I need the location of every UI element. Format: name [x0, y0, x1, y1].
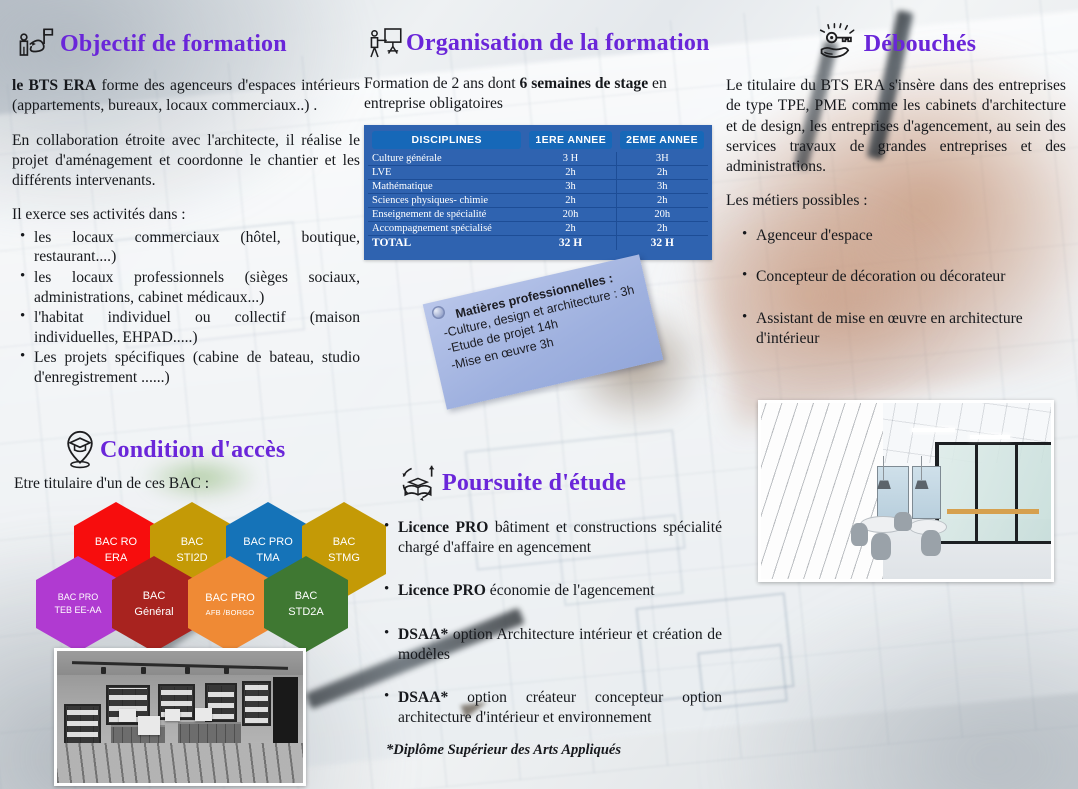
- cell-year2: 2h: [616, 221, 708, 235]
- list-item: Licence PRO bâtiment et constructions sp…: [398, 518, 722, 557]
- hours-table-body: Culture générale 3 H 3H LVE 2h 2h Mathém…: [368, 152, 708, 250]
- debouches-title: Débouchés: [864, 31, 976, 58]
- debouches-paragraph-2: Les métiers possibles :: [726, 191, 1066, 211]
- cell-year1: 2h: [525, 221, 616, 235]
- hexagon-line1: BAC: [143, 588, 166, 605]
- table-row: Mathématique 3h 3h: [368, 179, 708, 193]
- background-shadow-bottom-right: [718, 579, 1078, 789]
- organisation-intro-paragraph: Formation de 2 ans dont 6 semaines de st…: [364, 74, 712, 115]
- list-item: les locaux professionnels (sièges sociau…: [34, 268, 360, 307]
- hexagon-line2: STMG: [328, 550, 360, 567]
- list-item: l'habitat individuel ou collectif (maiso…: [34, 308, 360, 347]
- cell-year1: 2h: [525, 165, 616, 179]
- list-item-lead: DSAA*: [398, 689, 448, 706]
- section-debouches: Débouchés Le titulaire du BTS ERA s'insè…: [726, 22, 1066, 349]
- poursuite-footnote: *Diplôme Supérieur des Arts Appliqués: [372, 741, 722, 760]
- cell-year1: 20h: [525, 207, 616, 221]
- cell-year1: 3 H: [525, 152, 616, 166]
- poursuite-body: Licence PRO bâtiment et constructions sp…: [372, 518, 722, 760]
- shop-spotlight: [141, 667, 146, 674]
- table-row: LVE 2h 2h: [368, 165, 708, 179]
- header-pill-year2: 2EME ANNEE: [620, 131, 704, 149]
- objectif-bullet-list: les locaux commerciaux (hôtel, boutique,…: [12, 228, 360, 388]
- cell-year1: 3h: [525, 179, 616, 193]
- table-row: Enseignement de spécialité 20h 20h: [368, 207, 708, 221]
- cell-year2: 3h: [616, 179, 708, 193]
- hexagon-line2: AFB /BORGO: [206, 607, 255, 618]
- shop-floor: [57, 743, 303, 783]
- list-item-lead: Licence PRO: [398, 519, 488, 536]
- shop-display-box: [119, 709, 136, 722]
- header-cell-year1: 1ERE ANNEE: [525, 131, 616, 152]
- list-item: Les projets spécifiques (cabine de batea…: [34, 348, 360, 387]
- objectif-body: le BTS ERA forme des agenceurs d'espaces…: [12, 76, 360, 388]
- section-condition-dacces: Condition d'accès Etre titulaire d'un de…: [14, 428, 364, 494]
- organisation-title: Organisation de la formation: [406, 30, 710, 57]
- list-item-lead: Licence PRO: [398, 582, 486, 599]
- cell-year2: 2h: [616, 193, 708, 207]
- table-row: Sciences physiques- chimie 2h 2h: [368, 193, 708, 207]
- graduation-pin-icon: [60, 428, 100, 472]
- poursuite-bullet-list: Licence PRO bâtiment et constructions sp…: [372, 518, 722, 727]
- shop-interior-photo: [54, 648, 306, 786]
- list-item: Licence PRO économie de l'agencement: [398, 581, 722, 601]
- office-sketch-wall: [761, 403, 883, 579]
- organisation-intro-highlight: 6 semaines de stage: [520, 75, 649, 92]
- condition-title-row: Condition d'accès: [14, 428, 364, 472]
- office-meeting-desk: [947, 509, 1040, 514]
- poursuite-title-row: Poursuite d'étude: [372, 462, 722, 504]
- shop-spotlight: [101, 667, 106, 674]
- condition-title: Condition d'accès: [100, 437, 285, 464]
- cell-total-year1: 32 H: [525, 235, 616, 250]
- cell-discipline: Accompagnement spécialisé: [368, 221, 525, 235]
- section-objectif-de-formation: Objectif de formation le BTS ERA forme d…: [12, 22, 360, 389]
- office-glass-partition: [935, 442, 1051, 544]
- hexagon-line2: STD2A: [288, 604, 323, 621]
- shop-shelf-unit: [242, 681, 272, 726]
- hours-table-header-row: DISCIPLINES 1ERE ANNEE 2EME ANNEE: [368, 131, 708, 152]
- objectif-paragraph-3: Il exerce ses activités dans :: [12, 205, 360, 225]
- cell-year2: 3H: [616, 152, 708, 166]
- shop-doorway: [273, 677, 298, 746]
- cell-discipline: LVE: [368, 165, 525, 179]
- hexagon-line1: BAC PRO: [58, 591, 99, 605]
- hexagon-line2: STI2D: [176, 550, 207, 567]
- hexagon-line1: BAC PRO: [243, 534, 293, 551]
- list-item: les locaux commerciaux (hôtel, boutique,…: [34, 228, 360, 267]
- shop-spotlight: [185, 667, 190, 674]
- hexagon-line1: BAC RO: [95, 534, 137, 551]
- hexagon-line1: BAC: [181, 534, 204, 551]
- hexagon-line1: BAC PRO: [205, 590, 255, 607]
- header-cell-year2: 2EME ANNEE: [616, 131, 708, 152]
- organisation-intro-a: Formation de 2 ans dont: [364, 75, 520, 92]
- cell-year2: 20h: [616, 207, 708, 221]
- header-cell-disciplines: DISCIPLINES: [368, 131, 525, 152]
- cell-total-year2: 32 H: [616, 235, 708, 250]
- list-item: DSAA* option Architecture intérieur et c…: [398, 625, 722, 664]
- organisation-title-row: Organisation de la formation: [364, 22, 712, 64]
- book-graduation-cycle-icon: [398, 462, 438, 504]
- office-chair: [871, 533, 891, 559]
- office-lamp-cord: [921, 456, 922, 481]
- office-ceiling-light: [970, 435, 1011, 439]
- debouches-body: Le titulaire du BTS ERA s'insère dans de…: [726, 76, 1066, 348]
- hours-table-head: DISCIPLINES 1ERE ANNEE 2EME ANNEE: [368, 131, 708, 152]
- list-item: Concepteur de décoration ou décorateur: [756, 267, 1066, 287]
- office-lamp-cord: [883, 456, 884, 481]
- objectif-lead: le BTS ERA: [12, 77, 96, 94]
- office-ceiling-light: [912, 428, 956, 432]
- hours-table: DISCIPLINES 1ERE ANNEE 2EME ANNEE Cultur…: [368, 131, 708, 250]
- debouches-bullet-list: Agenceur d'espace Concepteur de décorati…: [726, 226, 1066, 349]
- hexagon-line2: TMA: [256, 550, 279, 567]
- hexagon-line1: BAC: [333, 534, 356, 551]
- debouches-title-row: Débouchés: [726, 22, 1066, 66]
- list-item-rest: économie de l'agencement: [486, 582, 655, 599]
- section-organisation-de-la-formation: Organisation de la formation Formation d…: [364, 22, 712, 260]
- hand-key-icon: [816, 22, 862, 66]
- bac-hexagon-diagram: BAC RO ERA BAC STI2D BAC PRO TMA BAC STM…: [24, 500, 364, 640]
- list-item: Assistant de mise en œuvre en architectu…: [756, 309, 1066, 348]
- teacher-whiteboard-icon: [364, 22, 406, 64]
- section-poursuite-detude: Poursuite d'étude Licence PRO bâtiment e…: [372, 462, 722, 760]
- cell-discipline: Enseignement de spécialité: [368, 207, 525, 221]
- objectif-paragraph-1: le BTS ERA forme des agenceurs d'espaces…: [12, 76, 360, 117]
- list-item-lead: DSAA*: [398, 626, 448, 643]
- cell-year1: 2h: [525, 193, 616, 207]
- shop-display-box: [195, 708, 212, 721]
- hexagon-line1: BAC: [295, 588, 318, 605]
- table-row: Accompagnement spécialisé 2h 2h: [368, 221, 708, 235]
- office-window: [912, 466, 941, 519]
- hexagon-line2: Général: [134, 604, 173, 621]
- condition-subtitle: Etre titulaire d'un de ces BAC :: [14, 474, 364, 494]
- objectif-title-row: Objectif de formation: [12, 22, 360, 66]
- office-chair: [921, 530, 941, 556]
- person-path-flag-icon: [12, 22, 56, 66]
- objectif-title: Objectif de formation: [60, 31, 287, 58]
- list-item: DSAA* option créateur concepteur option …: [398, 688, 722, 727]
- shop-spotlight: [224, 667, 229, 674]
- table-row-total: TOTAL 32 H 32 H: [368, 235, 708, 250]
- office-interior-photo: [758, 400, 1054, 582]
- table-row: Culture générale 3 H 3H: [368, 152, 708, 166]
- infographic-poster: Objectif de formation le BTS ERA forme d…: [0, 0, 1078, 789]
- objectif-paragraph-2: En collaboration étroite avec l'architec…: [12, 131, 360, 192]
- organisation-intro: Formation de 2 ans dont 6 semaines de st…: [364, 74, 712, 115]
- cell-discipline: Mathématique: [368, 179, 525, 193]
- cell-discipline: Sciences physiques- chimie: [368, 193, 525, 207]
- header-pill-year1: 1ERE ANNEE: [529, 131, 612, 149]
- hexagon-line2: TEB EE-AA: [54, 604, 101, 618]
- office-chair: [851, 523, 868, 546]
- hexagon-line2: ERA: [105, 550, 128, 567]
- poursuite-title: Poursuite d'étude: [442, 470, 626, 497]
- list-item: Agenceur d'espace: [756, 226, 1066, 246]
- shop-display-box: [165, 709, 180, 721]
- cell-total-label: TOTAL: [368, 235, 525, 250]
- cell-discipline: Culture générale: [368, 152, 525, 166]
- cell-year2: 2h: [616, 165, 708, 179]
- pin-icon: [431, 305, 447, 321]
- office-chair: [894, 512, 911, 531]
- debouches-paragraph-1: Le titulaire du BTS ERA s'insère dans de…: [726, 76, 1066, 177]
- header-pill-disciplines: DISCIPLINES: [372, 131, 521, 149]
- shop-display-box: [138, 716, 160, 736]
- hours-table-container: DISCIPLINES 1ERE ANNEE 2EME ANNEE Cultur…: [364, 125, 712, 260]
